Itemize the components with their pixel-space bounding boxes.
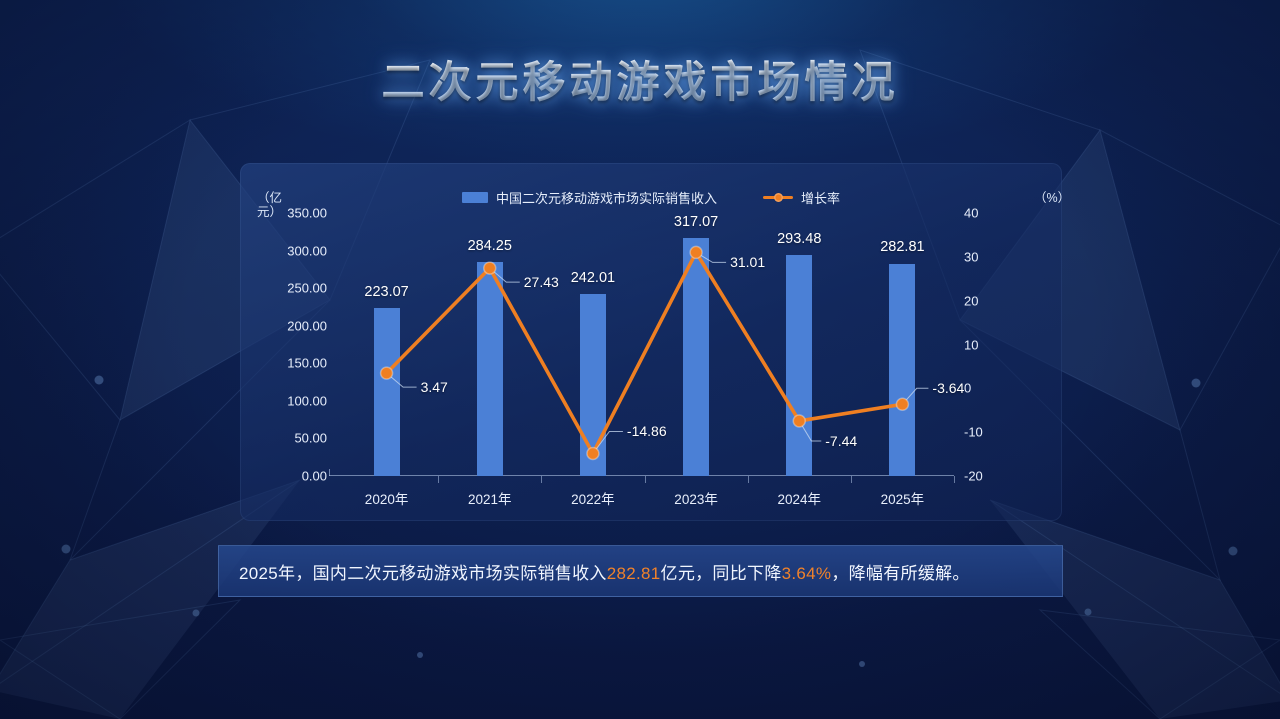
x-axis-tick bbox=[645, 476, 646, 483]
x-axis-tick bbox=[954, 476, 955, 483]
y-axis-left-tick: 250.00 bbox=[287, 281, 327, 296]
y-axis-right-tick: 20 bbox=[964, 293, 978, 308]
x-axis-tick bbox=[438, 476, 439, 483]
y-axis-left-tick: 0.00 bbox=[302, 469, 327, 484]
y-axis-left-unit: （亿元） bbox=[257, 191, 271, 220]
caption-highlight-growth: 3.64% bbox=[782, 564, 832, 583]
y-axis-right-tick: -20 bbox=[964, 469, 983, 484]
x-axis-label: 2022年 bbox=[571, 488, 615, 508]
y-axis-right-tick: 40 bbox=[964, 206, 978, 221]
y-axis-left-tick: 50.00 bbox=[294, 431, 327, 446]
line-value-label: 31.01 bbox=[730, 254, 765, 270]
caption-highlight-revenue: 282.81 bbox=[607, 564, 661, 583]
y-axis-right-unit: （%） bbox=[1034, 191, 1048, 205]
legend-item-bar[interactable]: 中国二次元移动游戏市场实际销售收入 bbox=[462, 188, 717, 207]
caption-part-1: 2025年，国内二次元移动游戏市场实际销售收入 bbox=[239, 564, 607, 583]
y-axis-left-tick: 200.00 bbox=[287, 318, 327, 333]
caption-part-3: ，降幅有所缓解。 bbox=[831, 564, 969, 583]
x-axis-tick bbox=[851, 476, 852, 483]
y-axis-right-tick: 10 bbox=[964, 337, 978, 352]
y-axis-right-tick: 0 bbox=[964, 381, 971, 396]
legend-bar-swatch-icon bbox=[462, 192, 488, 203]
line-value-label: 3.47 bbox=[421, 379, 448, 395]
legend-label-line: 增长率 bbox=[801, 188, 840, 207]
y-axis-left-tick: 150.00 bbox=[287, 356, 327, 371]
line-point[interactable] bbox=[690, 246, 702, 258]
caption-part-2: 亿元，同比下降 bbox=[661, 564, 782, 583]
y-axis-left-tick: 300.00 bbox=[287, 243, 327, 258]
line-value-label: -3.64 bbox=[932, 380, 964, 396]
x-axis-label: 2023年 bbox=[674, 488, 718, 508]
y-axis-left-tick: 350.00 bbox=[287, 206, 327, 221]
line-value-label: -7.44 bbox=[825, 433, 857, 449]
legend-label-bar: 中国二次元移动游戏市场实际销售收入 bbox=[496, 188, 717, 207]
legend-item-line[interactable]: 增长率 bbox=[763, 188, 840, 207]
line-point[interactable] bbox=[381, 367, 393, 379]
caption-bar: 2025年，国内二次元移动游戏市场实际销售收入282.81亿元，同比下降3.64… bbox=[218, 545, 1063, 597]
plot-area: 0.0050.00100.00150.00200.00250.00300.003… bbox=[335, 213, 954, 476]
y-axis-left-tick: 100.00 bbox=[287, 393, 327, 408]
y-axis-cap bbox=[329, 469, 330, 476]
y-axis-right-tick: 30 bbox=[964, 249, 978, 264]
x-axis-label: 2024年 bbox=[777, 488, 821, 508]
caption-text: 2025年，国内二次元移动游戏市场实际销售收入282.81亿元，同比下降3.64… bbox=[239, 559, 970, 584]
legend-line-swatch-icon bbox=[763, 192, 793, 203]
line-point[interactable] bbox=[793, 415, 805, 427]
x-axis-tick bbox=[541, 476, 542, 483]
x-axis-label: 2021年 bbox=[468, 488, 512, 508]
line-value-label: -14.86 bbox=[627, 423, 667, 439]
chart-legend: 中国二次元移动游戏市场实际销售收入 增长率 bbox=[240, 188, 1062, 207]
chart-card: 中国二次元移动游戏市场实际销售收入 增长率 （亿元） （%） 0.0050.00… bbox=[240, 163, 1062, 521]
page-title: 二次元移动游戏市场情况 bbox=[0, 48, 1280, 110]
line-value-label: 27.43 bbox=[524, 274, 559, 290]
y-axis-right-tick: -10 bbox=[964, 425, 983, 440]
x-axis-label: 2025年 bbox=[881, 488, 925, 508]
line-point[interactable] bbox=[896, 398, 908, 410]
line-point[interactable] bbox=[587, 447, 599, 459]
x-axis-label: 2020年 bbox=[365, 488, 409, 508]
x-axis-tick bbox=[748, 476, 749, 483]
line-point[interactable] bbox=[484, 262, 496, 274]
